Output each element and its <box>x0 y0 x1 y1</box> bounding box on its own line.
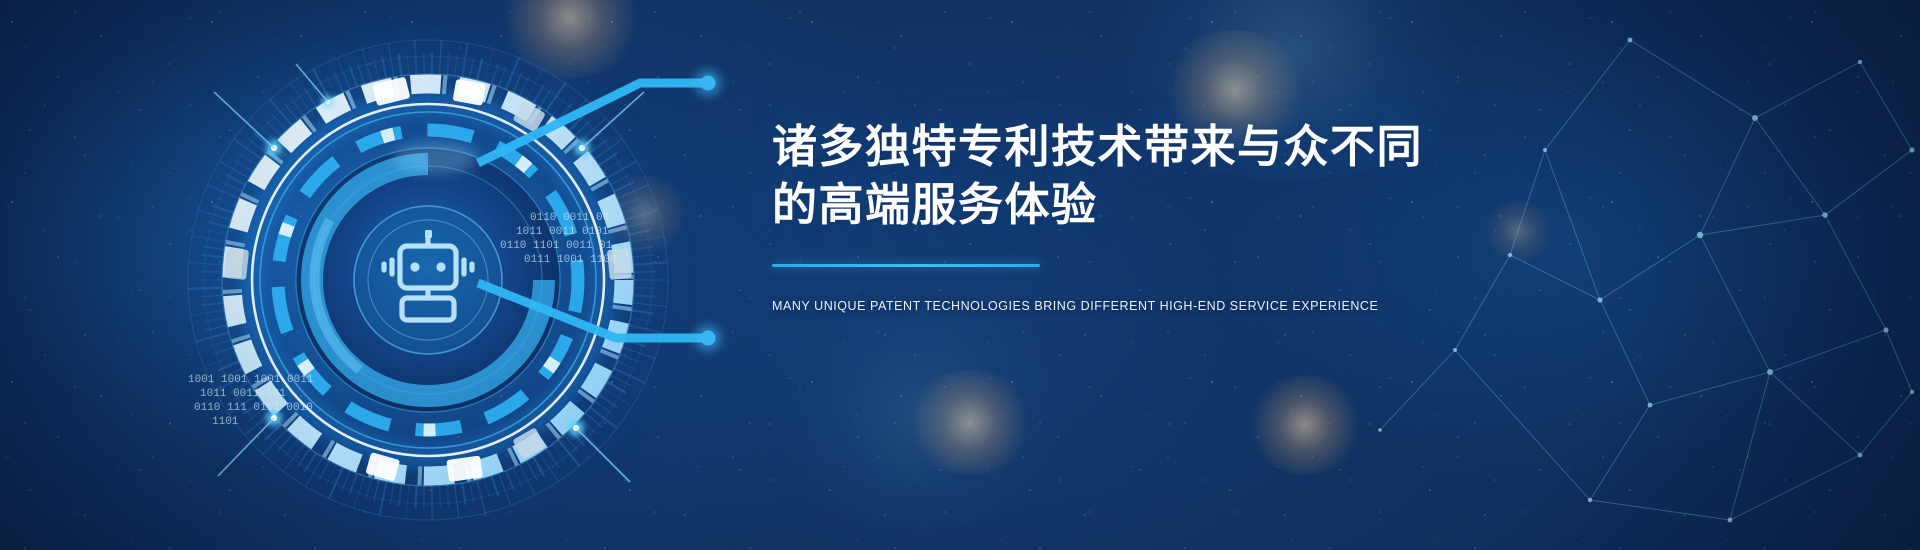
connector-endpoint-bottom <box>701 331 716 346</box>
page-title-line-1: 诸多独特专利技术带来与众不同 <box>772 118 1532 176</box>
nebula-glow-warm-3 <box>905 370 1035 475</box>
svg-text:1001 1001 1001 0011: 1001 1001 1001 0011 <box>188 374 314 386</box>
hero-copy-block: 诸多独特专利技术带来与众不同 的高端服务体验 MANY UNIQUE PATEN… <box>772 118 1532 313</box>
hud-circular-graphic: 1001 1001 1001 0011 1011 0011 101 0110 1… <box>178 30 678 530</box>
title-divider <box>772 264 1040 267</box>
svg-text:0110 0011 00: 0110 0011 00 <box>530 212 609 224</box>
svg-text:0110 111 0101 0010: 0110 111 0101 0010 <box>194 402 313 414</box>
svg-text:1101: 1101 <box>212 416 239 428</box>
connector-endpoint-top <box>701 76 716 91</box>
nebula-glow-cool-2 <box>760 300 1080 530</box>
svg-text:0111 1001 1100: 0111 1001 1100 <box>524 254 616 266</box>
hero-banner: 1001 1001 1001 0011 1011 0011 101 0110 1… <box>0 0 1920 550</box>
page-title-line-2: 的高端服务体验 <box>772 176 1532 234</box>
svg-text:1011 0011 0101: 1011 0011 0101 <box>516 226 609 238</box>
svg-text:0110 1101 0011 01: 0110 1101 0011 01 <box>500 240 613 252</box>
hud-rings-svg: 1001 1001 1001 0011 1011 0011 101 0110 1… <box>178 30 678 530</box>
subtitle-text: MANY UNIQUE PATENT TECHNOLOGIES BRING DI… <box>772 299 1532 313</box>
svg-text:1011 0011 101: 1011 0011 101 <box>200 388 286 400</box>
nebula-glow-warm-4 <box>1245 375 1365 475</box>
